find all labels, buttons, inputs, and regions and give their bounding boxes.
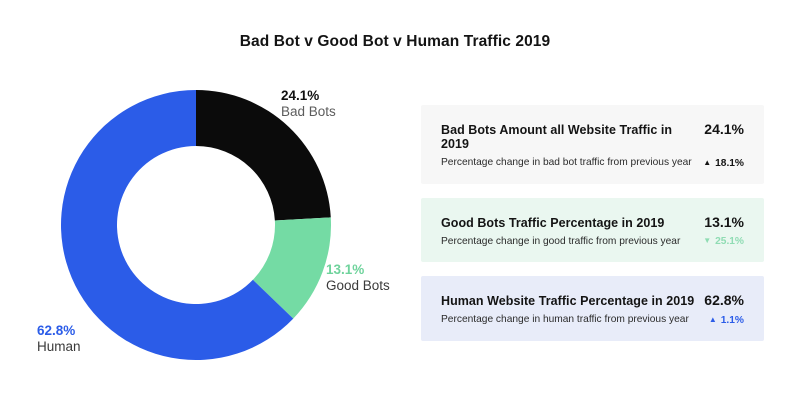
- stat-card-primary-row: Human Website Traffic Percentage in 2019…: [441, 292, 744, 308]
- stat-card-title: Bad Bots Amount all Website Traffic in 2…: [441, 123, 694, 151]
- stat-card-delta-value: 18.1%: [715, 158, 744, 169]
- stat-card-secondary-row: Percentage change in good traffic from p…: [441, 236, 744, 248]
- donut-label-human: 62.8% Human: [37, 323, 81, 355]
- stat-card-secondary-row: Percentage change in human traffic from …: [441, 314, 744, 326]
- stat-card-delta-value: 25.1%: [715, 236, 744, 247]
- donut-chart: [61, 90, 331, 360]
- triangle-up-icon: ▲: [703, 159, 711, 167]
- stat-card-value: 24.1%: [704, 121, 744, 137]
- donut-label-bad-bots-name: Bad Bots: [281, 104, 336, 120]
- stat-card-human[interactable]: Human Website Traffic Percentage in 2019…: [421, 276, 764, 341]
- stat-card-subtitle: Percentage change in good traffic from p…: [441, 236, 680, 247]
- stat-card-good-bots[interactable]: Good Bots Traffic Percentage in 201913.1…: [421, 198, 764, 263]
- donut-label-bad-bots-percent: 24.1%: [281, 88, 336, 104]
- stat-card-primary-row: Good Bots Traffic Percentage in 201913.1…: [441, 214, 744, 230]
- stat-card-delta: ▲1.1%: [709, 315, 744, 326]
- donut-label-good-bots-name: Good Bots: [326, 278, 390, 294]
- stat-card-delta-value: 1.1%: [721, 315, 744, 326]
- stat-card-title: Good Bots Traffic Percentage in 2019: [441, 216, 664, 230]
- donut-slice-group: [61, 90, 331, 360]
- donut-label-good-bots-percent: 13.1%: [326, 262, 390, 278]
- stat-card-secondary-row: Percentage change in bad bot traffic fro…: [441, 157, 744, 169]
- donut-label-human-percent: 62.8%: [37, 323, 81, 339]
- donut-label-human-name: Human: [37, 339, 81, 355]
- stat-card-title: Human Website Traffic Percentage in 2019: [441, 294, 694, 308]
- stat-card-primary-row: Bad Bots Amount all Website Traffic in 2…: [441, 121, 744, 151]
- stat-card-value: 62.8%: [704, 292, 744, 308]
- donut-chart-svg: [61, 90, 331, 360]
- triangle-down-icon: ▼: [703, 237, 711, 245]
- donut-label-bad-bots: 24.1% Bad Bots: [281, 88, 336, 120]
- page-title: Bad Bot v Good Bot v Human Traffic 2019: [0, 33, 790, 51]
- stat-card-delta: ▲18.1%: [703, 158, 744, 169]
- stat-card-subtitle: Percentage change in bad bot traffic fro…: [441, 157, 692, 168]
- stat-card-delta: ▼25.1%: [703, 236, 744, 247]
- stat-card-value: 13.1%: [704, 214, 744, 230]
- triangle-up-icon: ▲: [709, 316, 717, 324]
- donut-label-good-bots: 13.1% Good Bots: [326, 262, 390, 294]
- stat-card-subtitle: Percentage change in human traffic from …: [441, 314, 689, 325]
- stat-card-bad-bots[interactable]: Bad Bots Amount all Website Traffic in 2…: [421, 105, 764, 184]
- stat-card-list: Bad Bots Amount all Website Traffic in 2…: [421, 105, 764, 355]
